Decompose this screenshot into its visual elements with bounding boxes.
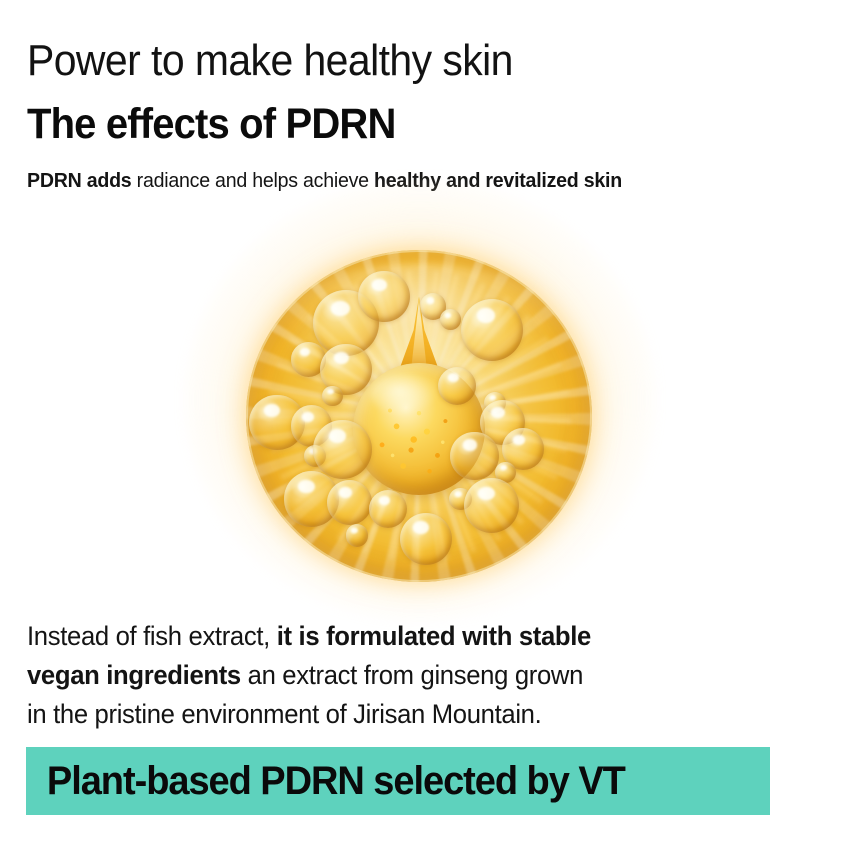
page-title: The effects of PDRN	[27, 98, 785, 150]
headline-light: Power to make healthy skin	[27, 36, 785, 86]
highlight-banner: Plant-based PDRN selected by VT	[26, 747, 770, 815]
body-line-1-bold: it is formulated with stable	[277, 621, 591, 651]
body-line-3: in the pristine environment of Jirisan M…	[27, 695, 749, 734]
body-line-2-bold: vegan ingredients	[27, 660, 241, 690]
body-line-2-regular: an extract from ginseng grown	[241, 660, 583, 690]
body-line-1-regular: Instead of fish extract,	[27, 621, 277, 651]
droplet-visual	[170, 185, 670, 615]
banner-label: Plant-based PDRN selected by VT	[26, 759, 625, 804]
body-copy: Instead of fish extract, it is formulate…	[27, 617, 749, 734]
header-block: Power to make healthy skin The effects o…	[27, 36, 842, 194]
amber-sphere-icon	[246, 250, 592, 582]
subheadline-bold-lead: PDRN adds	[27, 169, 131, 192]
body-line-2: vegan ingredients an extract from ginsen…	[27, 656, 749, 695]
sphere-rim	[246, 250, 592, 582]
promo-page: Power to make healthy skin The effects o…	[0, 0, 860, 860]
body-line-1: Instead of fish extract, it is formulate…	[27, 617, 749, 656]
